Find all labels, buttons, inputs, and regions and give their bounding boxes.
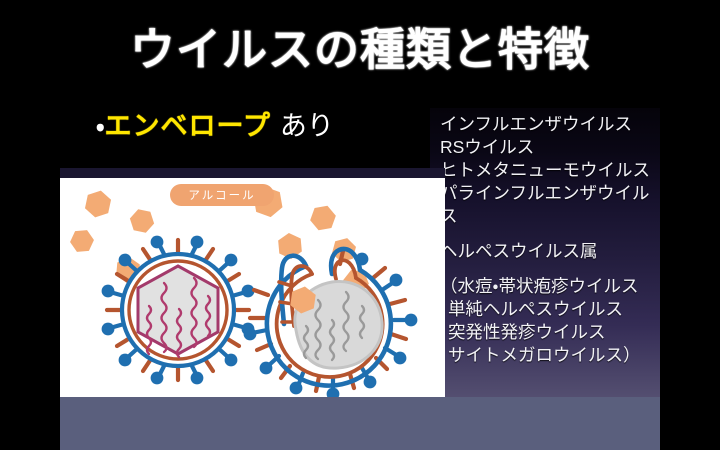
list-item: ス: [440, 205, 660, 228]
intact-virus-particle: [102, 236, 255, 385]
virus-group-herpes: ヘルペスウイルス属: [440, 240, 660, 263]
bullet-envelope-line: ・エンベロープあり: [96, 107, 334, 146]
bullet-tail: あり: [280, 111, 334, 141]
virus-name-list: インフルエンザウイルス RSウイルス ヒトメタニューモウイルス パラインフルエン…: [440, 113, 660, 367]
list-item: ヘルペスウイルス属: [440, 240, 660, 263]
list-spacer: [440, 263, 660, 275]
virus-illustration-svg: [60, 178, 445, 397]
virus-group-envelope-rna: インフルエンザウイルス RSウイルス ヒトメタニューモウイルス パラインフルエン…: [440, 113, 660, 228]
list-item: インフルエンザウイルス: [440, 113, 660, 136]
virus-group-herpes-members: （水痘・帯状疱疹ウイルス 単純ヘルペスウイルス 突発性発疹ウイルス サイトメガロ…: [440, 275, 660, 367]
list-item: 単純ヘルペスウイルス: [440, 298, 660, 321]
list-item: 突発性発疹ウイルス: [440, 321, 660, 344]
bullet-marker: ・: [96, 113, 105, 141]
virus-figure: アルコール: [60, 178, 445, 397]
alcohol-label-badge: アルコール: [170, 184, 274, 206]
list-item: パラインフルエンザウイル: [440, 182, 660, 205]
list-item: サイトメガロウイルス）: [440, 344, 660, 367]
list-item: ヒトメタニューモウイルス: [440, 159, 660, 182]
list-item: （水痘・帯状疱疹ウイルス: [440, 275, 660, 298]
list-item: RSウイルス: [440, 136, 660, 159]
figure-footer-band: [60, 397, 660, 450]
disrupted-virus-particle: [244, 249, 418, 397]
list-spacer: [440, 228, 660, 240]
slide-canvas: ウイルスの種類と特徴 ・エンベロープあり インフルエンザウイルス RSウイルス …: [0, 0, 720, 450]
bullet-keyword: エンベロープ: [105, 111, 271, 141]
page-title: ウイルスの種類と特徴: [0, 22, 720, 78]
